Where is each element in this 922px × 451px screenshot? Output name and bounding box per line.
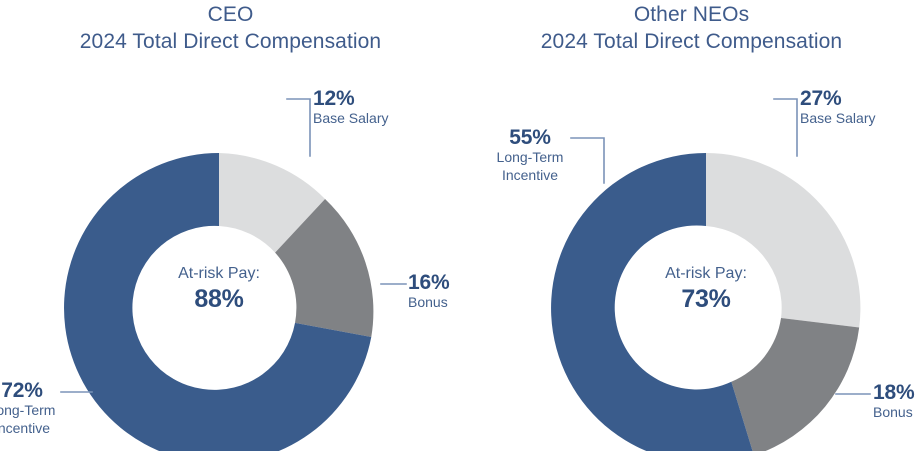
neos-segment-base-salary[interactable] [706,153,860,327]
neos-callout-bonus: 18% Bonus [873,382,914,422]
neos-base-salary-category: Base Salary [800,110,875,128]
ceo-callout-bonus: 16% Bonus [408,272,449,312]
ceo-callout-base-salary: 12% Base Salary [313,88,388,128]
neos-lti-category-line2: Incentive [489,167,571,185]
ceo-lti-category-line1: Long-Term [0,402,60,420]
ceo-base-salary-pct: 12% [313,88,388,110]
neos-donut-wrap: At-risk Pay: 73% 27% Base Salary 55% Lon… [461,0,922,451]
ceo-chart-panel: CEO 2024 Total Direct Compensation At-ri… [0,0,461,451]
neos-chart-panel: Other NEOs 2024 Total Direct Compensatio… [461,0,922,451]
ceo-donut-chart [0,0,461,451]
ceo-bonus-pct: 16% [408,272,449,294]
neos-lti-pct: 55% [489,127,571,149]
compensation-mix-infographic: CEO 2024 Total Direct Compensation At-ri… [0,0,922,451]
neos-bonus-pct: 18% [873,382,914,404]
neos-lti-category-line1: Long-Term [489,149,571,167]
ceo-lti-pct: 72% [0,380,60,402]
neos-bonus-category: Bonus [873,404,914,422]
ceo-lti-category-line2: Incentive [0,420,60,438]
neos-segment-bonus[interactable] [731,318,859,451]
neos-donut-chart [461,0,922,451]
neos-callout-base-salary: 27% Base Salary [800,88,875,128]
ceo-bonus-category: Bonus [408,294,449,312]
ceo-callout-lti: 72% Long-Term Incentive [0,380,60,437]
neos-base-salary-pct: 27% [800,88,875,110]
neos-callout-lti: 55% Long-Term Incentive [489,127,571,184]
ceo-donut-wrap: At-risk Pay: 88% 12% Base Salary 16% Bon… [0,0,461,451]
ceo-base-salary-category: Base Salary [313,110,388,128]
